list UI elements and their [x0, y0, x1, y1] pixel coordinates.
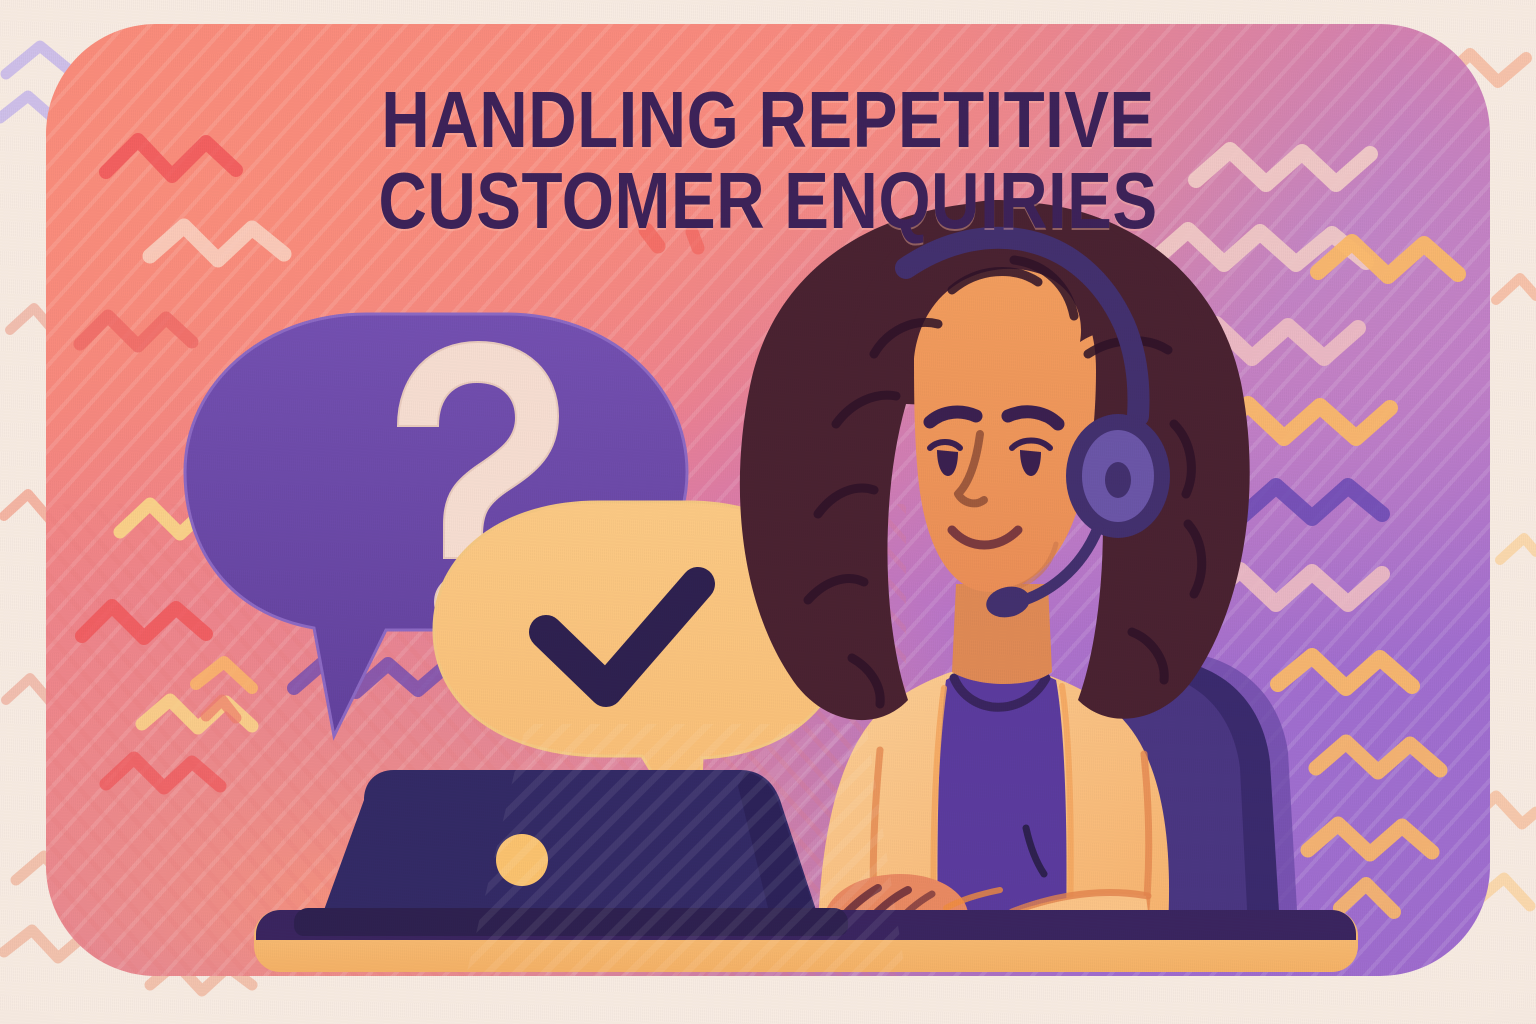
title-line-2: CUSTOMER ENQUIRIES: [162, 163, 1375, 240]
illustration-canvas: HANDLING REPETITIVE CUSTOMER ENQUIRIES: [0, 0, 1536, 1024]
title-line-1: HANDLING REPETITIVE: [381, 75, 1154, 164]
illustration-title: HANDLING REPETITIVE CUSTOMER ENQUIRIES: [162, 82, 1375, 240]
illustration-panel: HANDLING REPETITIVE CUSTOMER ENQUIRIES: [46, 24, 1490, 976]
